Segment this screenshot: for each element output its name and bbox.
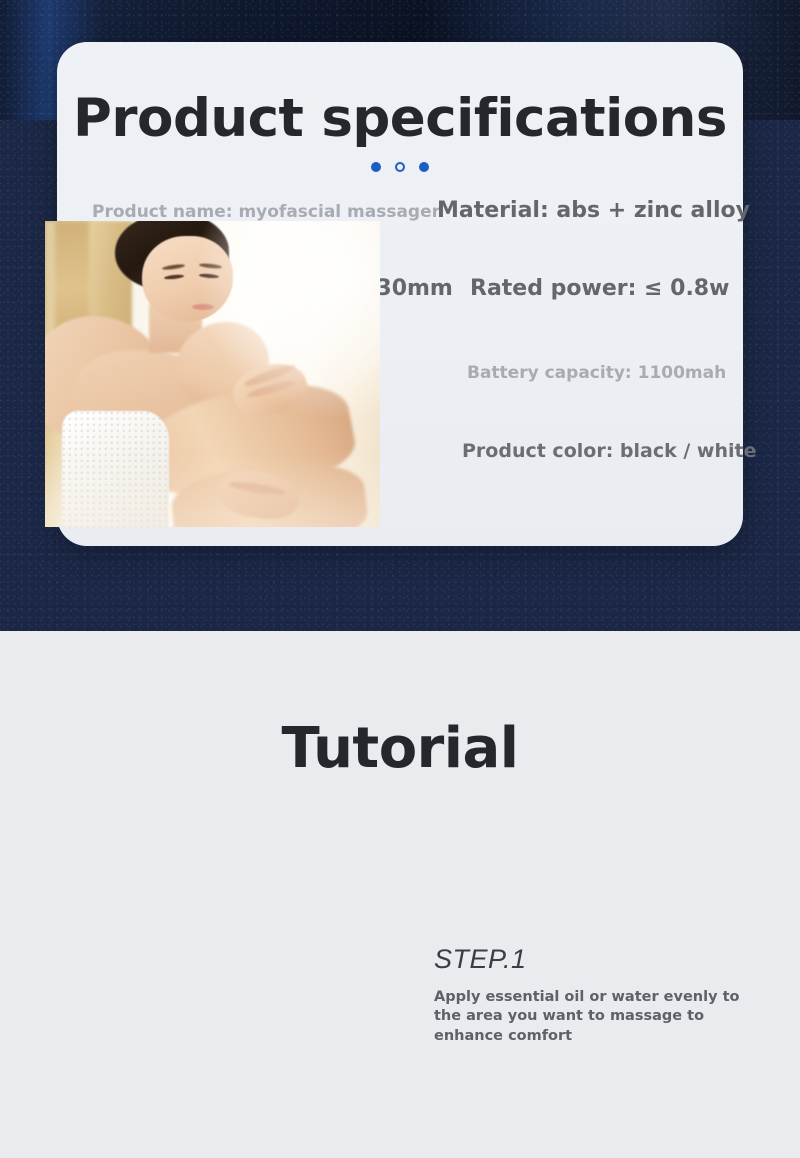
tutorial-step-photo [45,221,380,527]
spec-rated-power: Rated power: ≤ 0.8w [470,276,729,301]
carousel-dot-1-icon[interactable] [371,162,381,172]
tutorial-step-text: STEP.1 Apply essential oil or water even… [434,944,764,1046]
step-label: STEP.1 [434,944,764,975]
spec-battery-capacity: Battery capacity: 1100mah [467,363,726,383]
carousel-dots[interactable] [57,162,743,172]
page-title: Product specifications [57,88,743,149]
spec-material: Material: abs + zinc alloy [437,198,750,223]
carousel-dot-2-icon[interactable] [395,162,405,172]
tutorial-section: Tutorial [0,631,800,1158]
spec-product-color: Product color: black / white [462,440,756,462]
tutorial-title: Tutorial [0,716,800,781]
tutorial-photo-illustration [45,221,380,527]
spec-product-name: Product name: myofascial massager [92,202,440,222]
step-description: Apply essential oil or water evenly to t… [434,988,756,1046]
carousel-dot-3-icon[interactable] [419,162,429,172]
